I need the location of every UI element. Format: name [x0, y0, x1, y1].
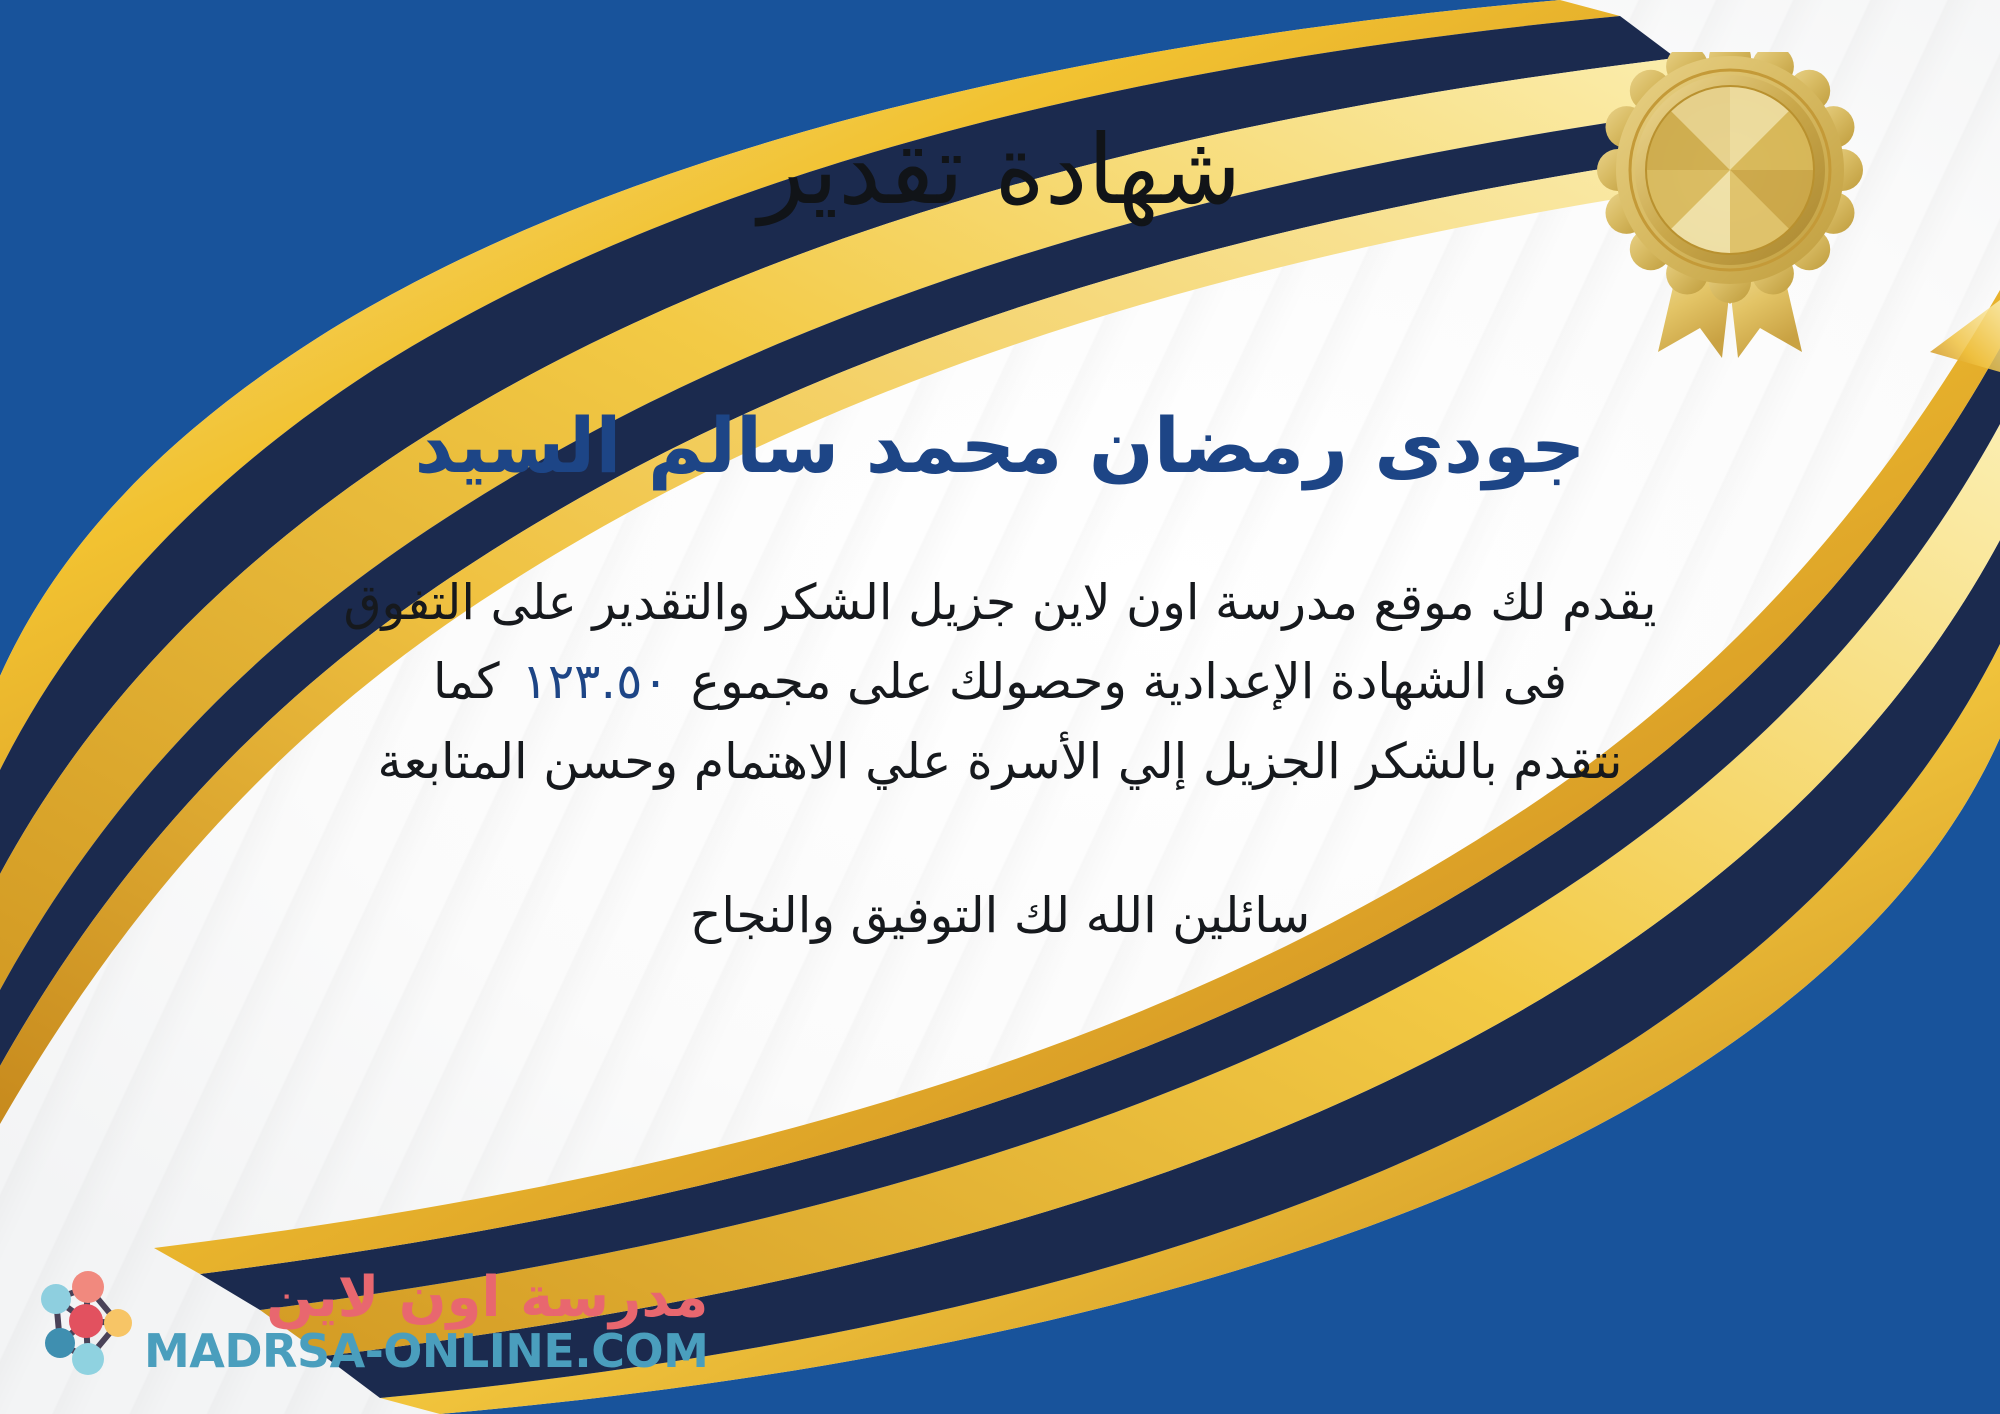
certificate-body: يقدم لك موقع مدرسة اون لاين جزيل الشكر و… — [85, 563, 1915, 801]
certificate-title: شهادة تقدير — [759, 118, 1242, 224]
body-line-2: فى الشهادة الإعدادية وحصولك على مجموع١٢٣… — [85, 642, 1915, 721]
body-line-1: يقدم لك موقع مدرسة اون لاين جزيل الشكر و… — [85, 563, 1915, 642]
logo-arabic-name: مدرسة اون لاين — [144, 1269, 708, 1327]
logo-text-block: مدرسة اون لاين MADRSA-ONLINE.COM — [144, 1269, 708, 1376]
grade-value: ١٢٣.٥٠ — [500, 653, 691, 710]
closing-line: سائلين الله لك التوفيق والنجاح — [85, 879, 1915, 953]
body-line-3: نتقدم بالشكر الجزيل إلي الأسرة علي الاهت… — [85, 722, 1915, 801]
body-line-2-prefix: فى الشهادة الإعدادية وحصولك على مجموع — [691, 653, 1567, 710]
logo-website: MADRSA-ONLINE.COM — [144, 1327, 708, 1376]
network-nodes-icon — [26, 1263, 144, 1381]
certificate-content: شهادة تقدير جودى رمضان محمد سالم السيد ي… — [0, 0, 2000, 1414]
certificate-canvas: شهادة تقدير جودى رمضان محمد سالم السيد ي… — [0, 0, 2000, 1414]
brand-logo[interactable]: مدرسة اون لاين MADRSA-ONLINE.COM — [20, 1248, 580, 1396]
body-line-2-suffix: كما — [433, 653, 500, 710]
recipient-name: جودى رمضان محمد سالم السيد — [415, 402, 1586, 489]
